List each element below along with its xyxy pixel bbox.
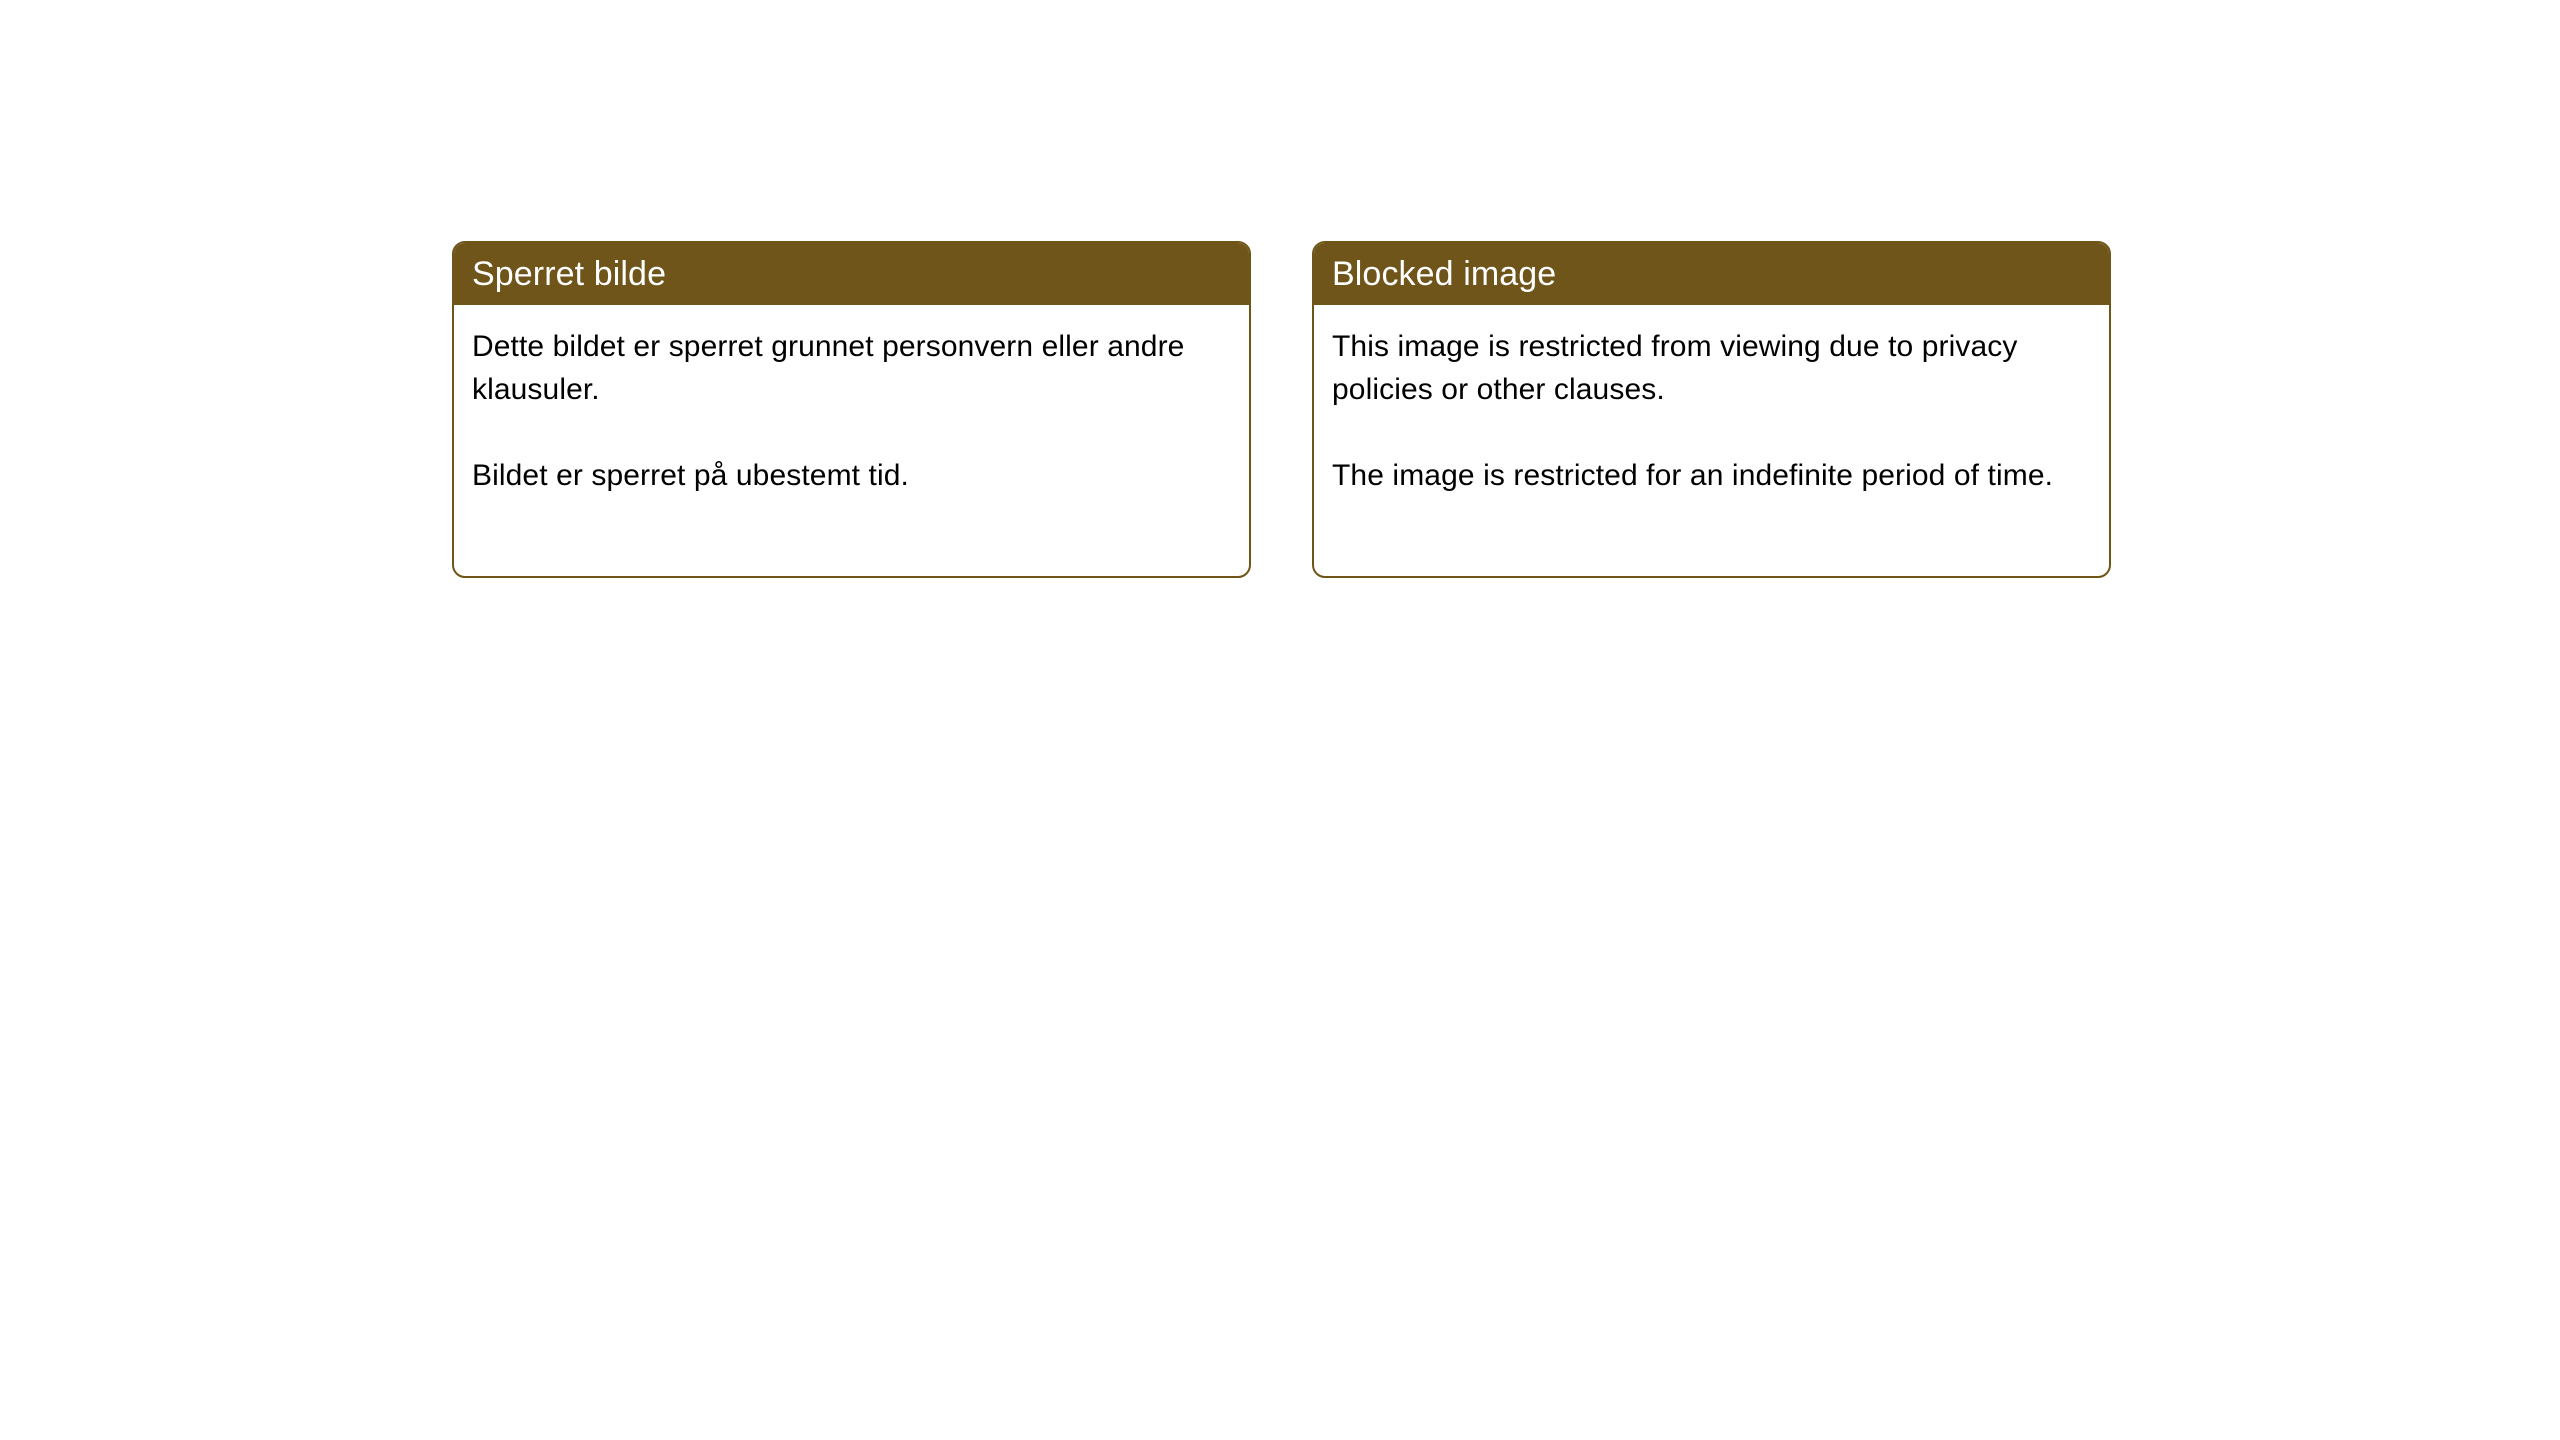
card-header-english: Blocked image (1314, 243, 2109, 305)
card-paragraph-privacy-english: This image is restricted from viewing du… (1332, 325, 2087, 411)
card-paragraph-privacy-norwegian: Dette bildet er sperret grunnet personve… (472, 325, 1227, 411)
card-body-english: This image is restricted from viewing du… (1314, 305, 2109, 497)
card-title-english: Blocked image (1332, 255, 1556, 293)
paragraph-spacer (1332, 411, 2087, 454)
card-paragraph-duration-norwegian: Bildet er sperret på ubestemt tid. (472, 454, 1227, 497)
blocked-image-card-english: Blocked image This image is restricted f… (1312, 241, 2111, 578)
card-header-norwegian: Sperret bilde (454, 243, 1249, 305)
card-title-norwegian: Sperret bilde (472, 255, 666, 293)
card-paragraph-duration-english: The image is restricted for an indefinit… (1332, 454, 2087, 497)
blocked-image-card-norwegian: Sperret bilde Dette bildet er sperret gr… (452, 241, 1251, 578)
paragraph-spacer (472, 411, 1227, 454)
notice-stage: Sperret bilde Dette bildet er sperret gr… (0, 0, 2560, 1440)
card-body-norwegian: Dette bildet er sperret grunnet personve… (454, 305, 1249, 497)
